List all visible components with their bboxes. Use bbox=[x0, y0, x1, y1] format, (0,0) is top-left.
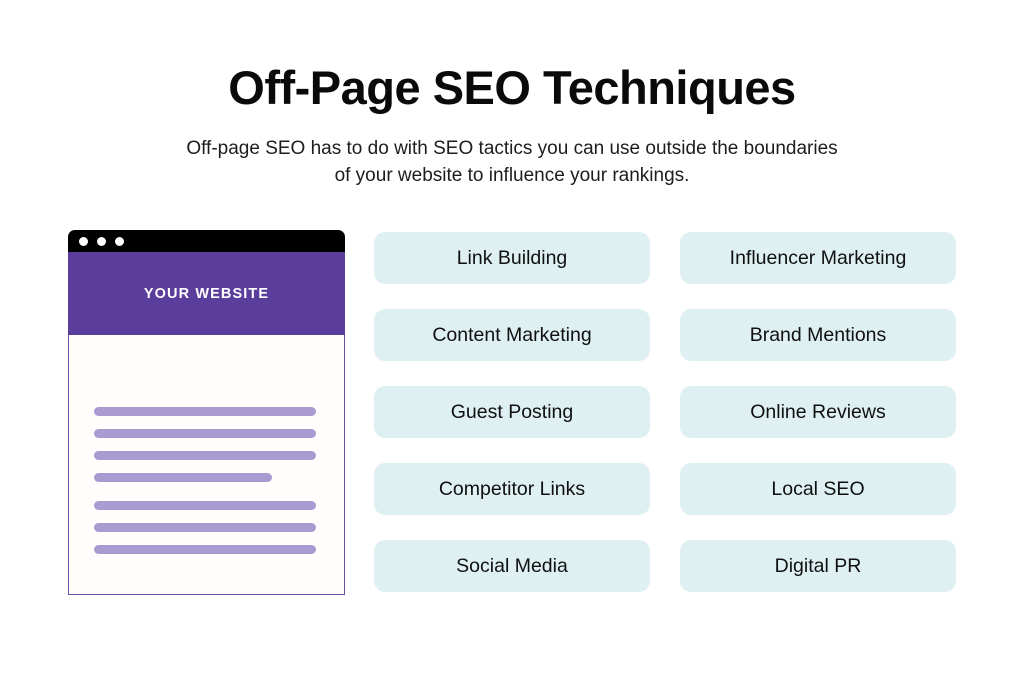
window-dot-icon bbox=[97, 237, 106, 246]
content-bar-group bbox=[94, 407, 316, 482]
technique-card[interactable]: Social Media bbox=[374, 540, 650, 592]
technique-card[interactable]: Local SEO bbox=[680, 463, 956, 515]
content-bar bbox=[94, 523, 316, 532]
content-bar bbox=[94, 407, 316, 416]
website-content-area bbox=[68, 335, 345, 595]
technique-card[interactable]: Online Reviews bbox=[680, 386, 956, 438]
content-bar bbox=[94, 473, 272, 482]
technique-card[interactable]: Link Building bbox=[374, 232, 650, 284]
infographic-canvas: Off-Page SEO Techniques Off-page SEO has… bbox=[0, 0, 1024, 683]
page-title: Off-Page SEO Techniques bbox=[0, 62, 1024, 114]
technique-card[interactable]: Content Marketing bbox=[374, 309, 650, 361]
content-bar-group bbox=[94, 501, 316, 554]
page-subtitle: Off-page SEO has to do with SEO tactics … bbox=[0, 135, 1024, 190]
technique-card[interactable]: Competitor Links bbox=[374, 463, 650, 515]
techniques-grid: Link Building Influencer Marketing Conte… bbox=[374, 232, 956, 592]
technique-card[interactable]: Guest Posting bbox=[374, 386, 650, 438]
browser-titlebar bbox=[68, 230, 345, 252]
technique-card[interactable]: Digital PR bbox=[680, 540, 956, 592]
subtitle-line-1: Off-page SEO has to do with SEO tactics … bbox=[0, 135, 1024, 163]
subtitle-line-2: of your website to influence your rankin… bbox=[0, 162, 1024, 190]
window-dot-icon bbox=[115, 237, 124, 246]
content-bar bbox=[94, 451, 316, 460]
website-hero-label: YOUR WEBSITE bbox=[144, 286, 269, 302]
header: Off-Page SEO Techniques Off-page SEO has… bbox=[0, 62, 1024, 190]
website-hero-banner: YOUR WEBSITE bbox=[68, 252, 345, 335]
content-bar bbox=[94, 501, 316, 510]
website-mockup: YOUR WEBSITE bbox=[68, 230, 345, 595]
content-bar bbox=[94, 429, 316, 438]
technique-card[interactable]: Brand Mentions bbox=[680, 309, 956, 361]
content-bar bbox=[94, 545, 316, 554]
technique-card[interactable]: Influencer Marketing bbox=[680, 232, 956, 284]
window-dot-icon bbox=[79, 237, 88, 246]
